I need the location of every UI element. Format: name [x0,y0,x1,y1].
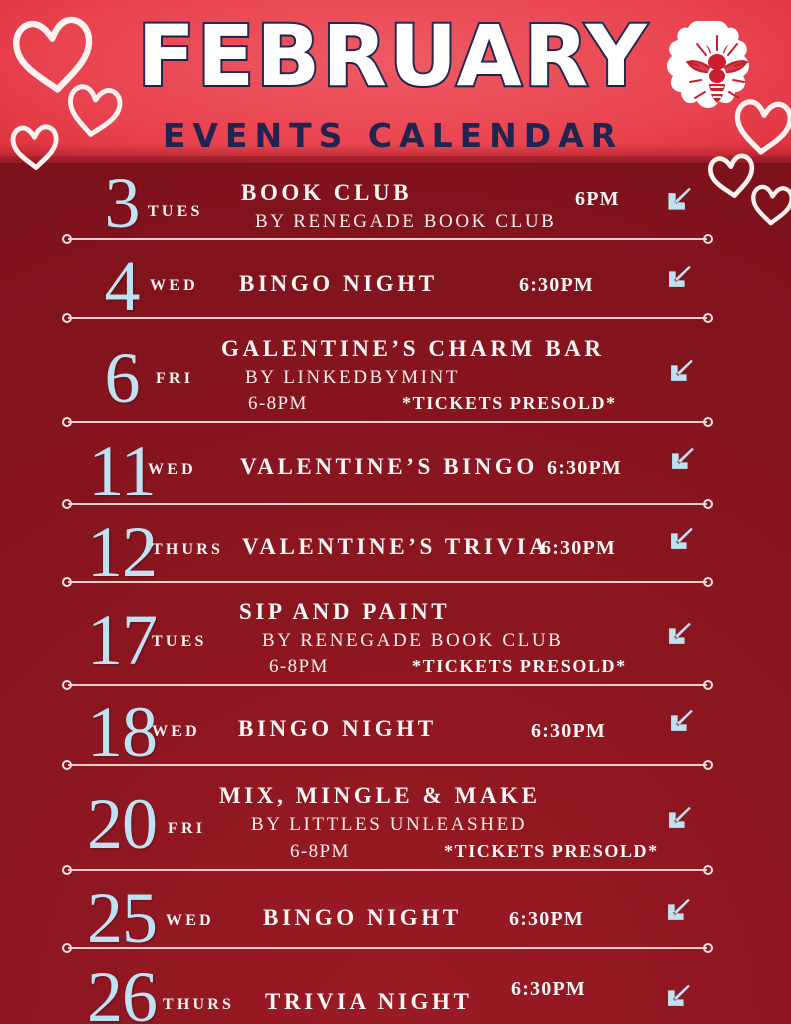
divider-line [68,503,707,505]
divider-line [68,421,707,423]
arrow-down-left-icon[interactable] [663,705,697,739]
event-weekday: TUES [148,203,203,221]
page-subtitle: EVENTS CALENDAR [128,118,658,154]
event-time: 6:30PM [547,457,622,479]
event-weekday: WED [166,912,214,930]
event-host: BY LINKEDBYMINT [245,367,460,389]
event-weekday: FRI [168,820,205,838]
divider-ring-right [703,943,713,953]
list-item[interactable]: 3 TUES BOOK CLUB BY RENEGADE BOOK CLUB 6… [0,163,791,244]
event-note: *TICKETS PRESOLD* [412,656,627,677]
event-title: VALENTINE’S BINGO [240,454,538,480]
row-divider [62,416,713,428]
event-title: BINGO NIGHT [238,716,437,742]
event-note: *TICKETS PRESOLD* [444,841,659,862]
row-divider [62,759,713,771]
event-time: 6:30PM [541,537,616,559]
page-title: FEBRUARY [128,14,658,98]
divider-ring-right [703,577,713,587]
arrow-down-left-icon[interactable] [660,894,694,928]
divider-line [68,238,707,240]
arrow-down-left-icon[interactable] [661,618,695,652]
event-weekday: THURS [163,996,234,1014]
divider-line [68,317,707,319]
divider-ring-right [703,499,713,509]
event-host: BY RENEGADE BOOK CLUB [262,630,563,652]
list-item[interactable]: 26 THURS TRIVIA NIGHT 6:30PM [0,954,791,1024]
arrow-down-left-icon[interactable] [663,523,697,557]
event-weekday: THURS [152,541,223,559]
event-day-number: 20 [62,788,182,860]
arrow-down-left-icon[interactable] [660,980,694,1014]
event-time: 6:30PM [519,274,594,296]
event-title: MIX, MINGLE & MAKE [219,783,541,809]
divider-ring-right [703,680,713,690]
arrow-down-left-icon[interactable] [661,183,695,217]
divider-line [68,869,707,871]
event-weekday: TUES [152,633,207,651]
event-title: BINGO NIGHT [239,271,438,297]
event-title: BOOK CLUB [241,180,412,206]
divider-ring-right [703,417,713,427]
divider-ring-right [703,234,713,244]
row-divider [62,576,713,588]
list-item[interactable]: 18 WED BINGO NIGHT 6:30PM [0,691,791,771]
divider-ring-right [703,865,713,875]
heart-outline-icon [59,78,128,144]
row-divider [62,679,713,691]
divider-ring-right [703,760,713,770]
divider-line [68,581,707,583]
divider-line [68,684,707,686]
events-list: 3 TUES BOOK CLUB BY RENEGADE BOOK CLUB 6… [0,163,791,1024]
event-title: VALENTINE’S TRIVIA [242,534,549,560]
event-note: *TICKETS PRESOLD* [402,393,617,414]
list-item[interactable]: 6 FRI GALENTINE’S CHARM BAR BY LINKEDBYM… [0,324,791,428]
event-title: BINGO NIGHT [263,905,462,931]
arrow-down-left-icon[interactable] [661,802,695,836]
list-item[interactable]: 20 FRI MIX, MINGLE & MAKE BY LITTLES UNL… [0,771,791,876]
event-title: SIP AND PAINT [239,599,450,625]
arrow-down-left-icon[interactable] [664,443,698,477]
february-events-calendar-poster: FEBRUARY EVENTS CALENDAR [0,0,791,1024]
list-item[interactable]: 12 THURS VALENTINE’S TRIVIA 6:30PM [0,510,791,588]
event-host: BY RENEGADE BOOK CLUB [255,211,556,233]
event-time: 6PM [575,188,620,210]
event-host: BY LITTLES UNLEASHED [251,814,527,836]
list-item[interactable]: 4 WED BINGO NIGHT 6:30PM [0,244,791,324]
event-weekday: WED [150,277,198,295]
arrow-down-left-icon[interactable] [661,261,695,295]
row-divider [62,864,713,876]
event-time-span: 6-8PM [290,841,350,862]
event-time: 6:30PM [509,908,584,930]
row-divider [62,942,713,954]
arrow-down-left-icon[interactable] [663,355,697,389]
event-time-span: 6-8PM [248,393,308,414]
event-weekday: FRI [156,370,193,388]
event-day-number: 26 [62,961,182,1024]
event-title: TRIVIA NIGHT [265,989,472,1015]
event-title: GALENTINE’S CHARM BAR [221,336,605,362]
event-weekday: WED [148,461,196,479]
list-item[interactable]: 17 TUES SIP AND PAINT BY RENEGADE BOOK C… [0,588,791,691]
list-item[interactable]: 11 WED VALENTINE’S BINGO 6:30PM [0,428,791,510]
divider-line [68,947,707,949]
list-item[interactable]: 25 WED BINGO NIGHT 6:30PM [0,876,791,954]
event-time-span: 6-8PM [269,656,329,677]
event-time: 6:30PM [511,978,586,1000]
event-time: 6:30PM [531,720,606,742]
event-weekday: WED [152,723,200,741]
row-divider [62,312,713,324]
divider-ring-right [703,313,713,323]
row-divider [62,498,713,510]
divider-line [68,764,707,766]
